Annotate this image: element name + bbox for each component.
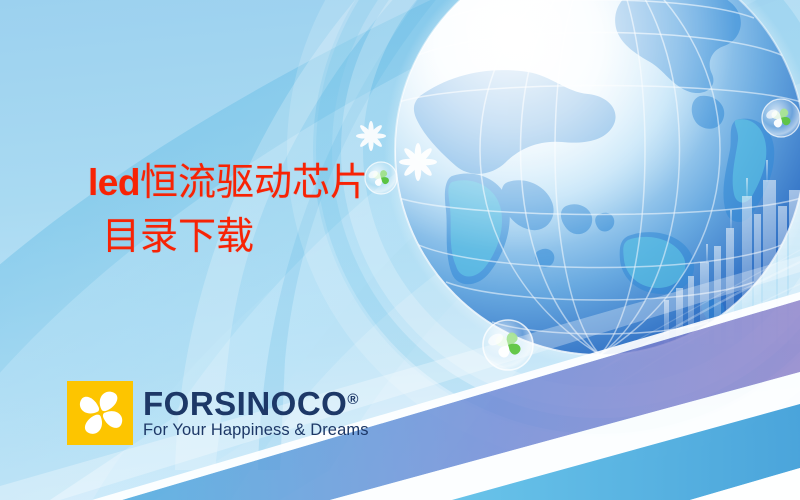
- headline-latin: led: [88, 162, 140, 203]
- brand-logo: FORSINOCO® For Your Happiness & Dreams: [67, 381, 369, 445]
- headline-cjk: 恒流驱动芯片: [140, 162, 368, 204]
- registered-trademark-icon: ®: [347, 391, 359, 408]
- logo-pinwheel-icon: [67, 381, 133, 445]
- logo-wordmark-name: FORSINOCO: [143, 385, 347, 422]
- headline-line-1: led恒流驱动芯片: [88, 162, 368, 204]
- headline-text: led恒流驱动芯片 目录下载: [88, 160, 368, 261]
- logo-tagline: For Your Happiness & Dreams: [143, 422, 369, 439]
- logo-wordmark: FORSINOCO®: [143, 387, 369, 420]
- headline-line-2: 目录下载: [88, 214, 368, 260]
- logo-text-block: FORSINOCO® For Your Happiness & Dreams: [143, 387, 369, 439]
- promo-banner: led恒流驱动芯片 目录下载 FORSINOCO® For Your Happi…: [0, 0, 800, 500]
